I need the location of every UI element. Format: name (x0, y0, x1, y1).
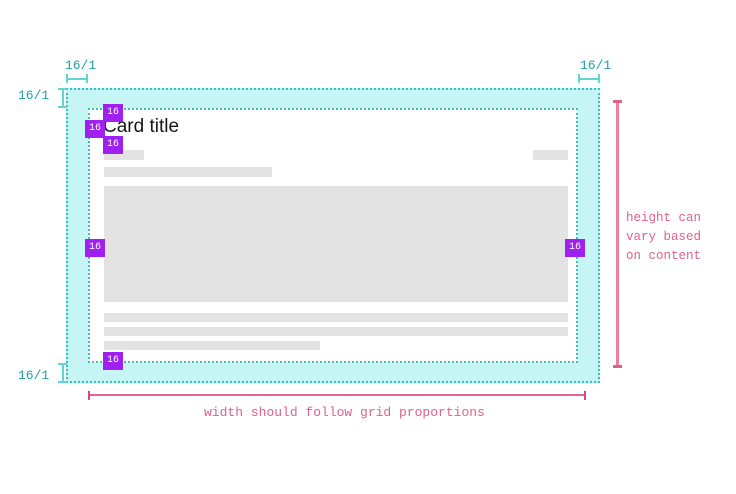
width-note: width should follow grid proportions (204, 405, 485, 420)
height-measure-line (613, 100, 622, 368)
badge-title-bottom: 16 (103, 136, 123, 154)
gutter-label-top-right: 16/1 (580, 58, 611, 73)
gutter-tick-top-right (578, 74, 600, 83)
tick-line (66, 78, 88, 80)
tick-cap-left (66, 74, 68, 83)
placeholder-meta-right (533, 150, 568, 160)
placeholder-body-line-3 (104, 341, 320, 350)
measure-cap-bottom (613, 365, 622, 368)
measure-line (88, 394, 586, 396)
placeholder-media-block (104, 186, 568, 302)
gutter-label-left-top: 16/1 (18, 88, 49, 103)
gutter-label-top-left: 16/1 (65, 58, 96, 73)
tick-line (62, 363, 64, 383)
tick-cap-left (578, 74, 580, 83)
badge-card-bottom: 16 (103, 352, 123, 370)
badge-title-top: 16 (103, 104, 123, 122)
placeholder-subtitle-line (104, 167, 272, 177)
design-spec-canvas: Card title 16 16 16 16 16 16 16/1 16/1 1… (0, 0, 736, 494)
measure-line (616, 100, 619, 368)
placeholder-body-line-1 (104, 313, 568, 322)
width-measure-line (88, 391, 586, 400)
tick-cap-right (598, 74, 600, 83)
tick-cap-bottom (58, 381, 67, 383)
tick-cap-right (86, 74, 88, 83)
gutter-tick-left-bottom (58, 363, 67, 383)
measure-cap-right (584, 391, 586, 400)
measure-cap-left (88, 391, 90, 400)
badge-title-left: 16 (85, 120, 105, 138)
gutter-label-left-bottom: 16/1 (18, 368, 49, 383)
placeholder-body-line-2 (104, 327, 568, 336)
gutter-tick-left-top (58, 88, 67, 108)
tick-cap-top (58, 88, 67, 90)
tick-cap-top (58, 363, 67, 365)
gutter-tick-top-left (66, 74, 88, 83)
badge-card-right: 16 (565, 239, 585, 257)
measure-cap-top (613, 100, 622, 103)
tick-cap-bottom (58, 106, 67, 108)
height-note: height can vary based on content (626, 209, 701, 266)
badge-card-left: 16 (85, 239, 105, 257)
tick-line (62, 88, 64, 108)
tick-line (578, 78, 600, 80)
